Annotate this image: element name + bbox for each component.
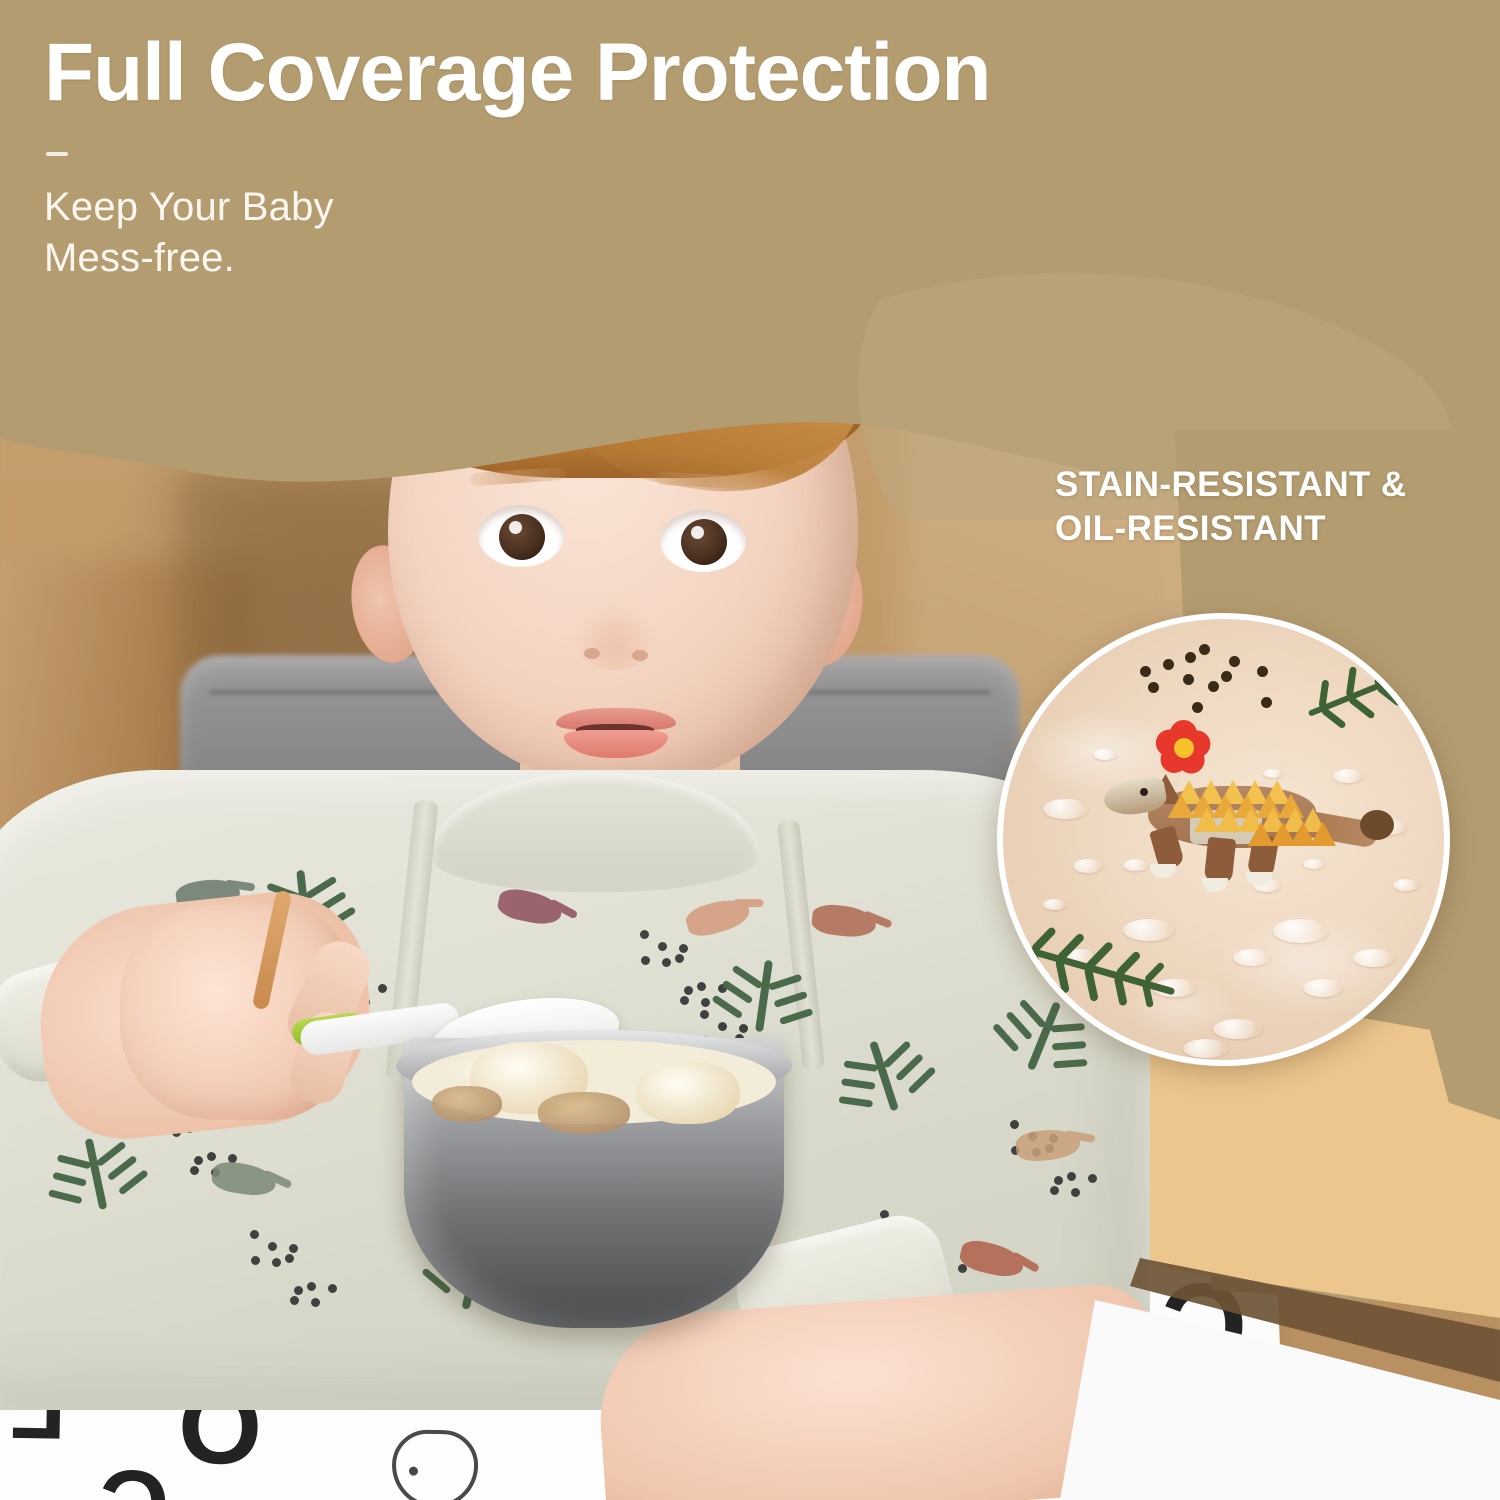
inset-black-dot bbox=[1192, 702, 1203, 713]
feature-label: STAIN-RESISTANT & OIL-RESISTANT bbox=[1055, 463, 1407, 551]
inset-black-dot bbox=[1221, 671, 1232, 682]
baby-mouth bbox=[556, 708, 676, 760]
inset-black-dot bbox=[1148, 682, 1159, 693]
inset-black-dot bbox=[1185, 652, 1196, 663]
product-marketing-image: TYFOiCmoCn bbox=[0, 0, 1500, 1500]
water-bead bbox=[1233, 949, 1271, 966]
baby-eye-right bbox=[660, 510, 746, 572]
inset-black-dot bbox=[1183, 674, 1194, 685]
water-bead bbox=[1353, 949, 1395, 967]
baby-nostril-left bbox=[584, 648, 600, 659]
subheadline-dash bbox=[46, 152, 68, 156]
inset-black-dot bbox=[1257, 666, 1268, 677]
water-bead bbox=[1303, 979, 1343, 997]
baby-nostril-right bbox=[632, 650, 648, 661]
baby-eye-left bbox=[478, 505, 564, 567]
food-chunk-brown bbox=[432, 1086, 502, 1122]
inset-black-dot bbox=[1261, 697, 1272, 708]
water-bead bbox=[1043, 899, 1067, 910]
water-bead bbox=[1043, 799, 1089, 819]
inset-black-dot bbox=[1199, 644, 1210, 655]
water-bead bbox=[1183, 1039, 1229, 1058]
ankylosaurus-dinosaur-icon bbox=[1098, 754, 1368, 889]
bib-dot-cluster bbox=[250, 1230, 340, 1310]
inset-black-dot bbox=[1140, 666, 1151, 677]
page-title: Full Coverage Protection bbox=[44, 30, 991, 117]
water-bead bbox=[1273, 919, 1329, 943]
inset-black-dot bbox=[1229, 656, 1240, 667]
inset-black-dot bbox=[1208, 681, 1219, 692]
fabric-closeup-inset bbox=[997, 613, 1450, 1066]
food-chunk-brown bbox=[538, 1092, 630, 1134]
food-chunk bbox=[636, 1062, 740, 1124]
water-bead bbox=[1393, 879, 1419, 891]
water-bead bbox=[1123, 919, 1175, 941]
bib-dot-cluster bbox=[640, 930, 730, 1010]
water-bead bbox=[1213, 1019, 1263, 1039]
inset-black-dot bbox=[1163, 659, 1174, 670]
subheadline: Keep Your Baby Mess-free. bbox=[44, 182, 334, 284]
